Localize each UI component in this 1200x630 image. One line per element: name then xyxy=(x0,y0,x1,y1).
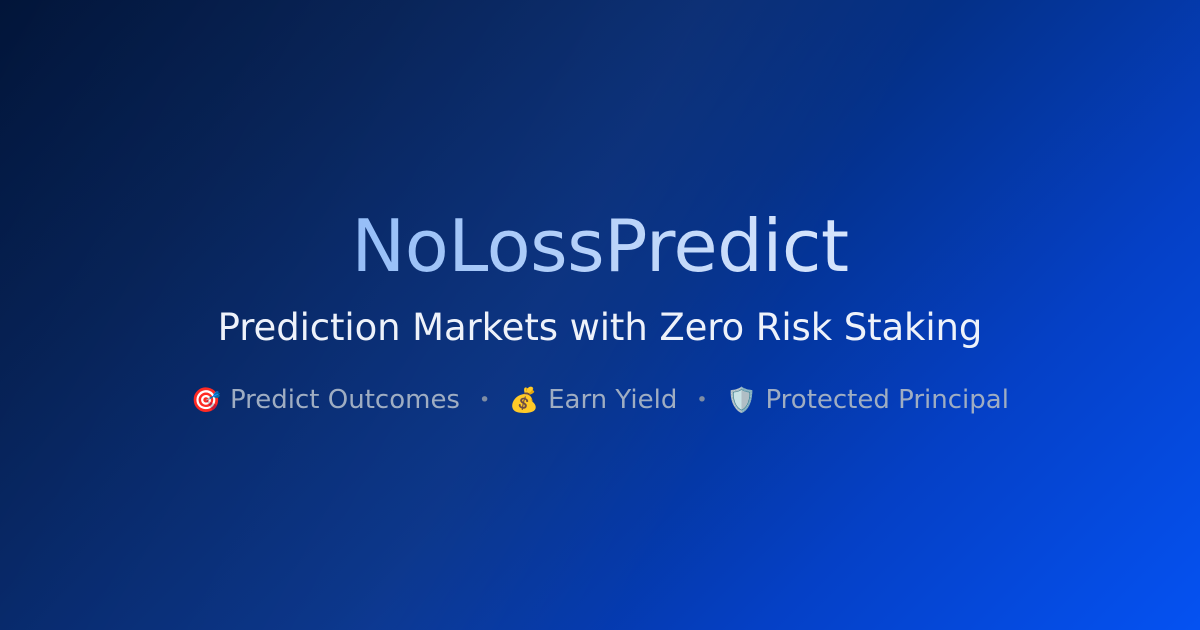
feature-separator-1: • xyxy=(460,391,509,410)
feature-predict-outcomes: 🎯 Predict Outcomes xyxy=(191,387,460,413)
target-icon: 🎯 xyxy=(191,388,221,412)
feature-label-predict-outcomes: Predict Outcomes xyxy=(230,387,460,413)
feature-list: 🎯 Predict Outcomes • 💰 Earn Yield • 🛡️ P… xyxy=(0,387,1200,413)
tagline: Prediction Markets with Zero Risk Stakin… xyxy=(0,309,1200,346)
feature-label-protected-principal: Protected Principal xyxy=(765,387,1008,413)
feature-earn-yield: 💰 Earn Yield xyxy=(509,387,677,413)
feature-label-earn-yield: Earn Yield xyxy=(548,387,677,413)
og-banner-card: NoLossPredict Prediction Markets with Ze… xyxy=(0,0,1200,630)
feature-separator-2: • xyxy=(677,391,726,410)
money-bag-icon: 💰 xyxy=(509,388,539,412)
feature-protected-principal: 🛡️ Protected Principal xyxy=(727,387,1009,413)
shield-icon: 🛡️ xyxy=(727,388,757,412)
banner-content: NoLossPredict Prediction Markets with Ze… xyxy=(0,0,1200,413)
brand-title: NoLossPredict xyxy=(0,0,1200,282)
